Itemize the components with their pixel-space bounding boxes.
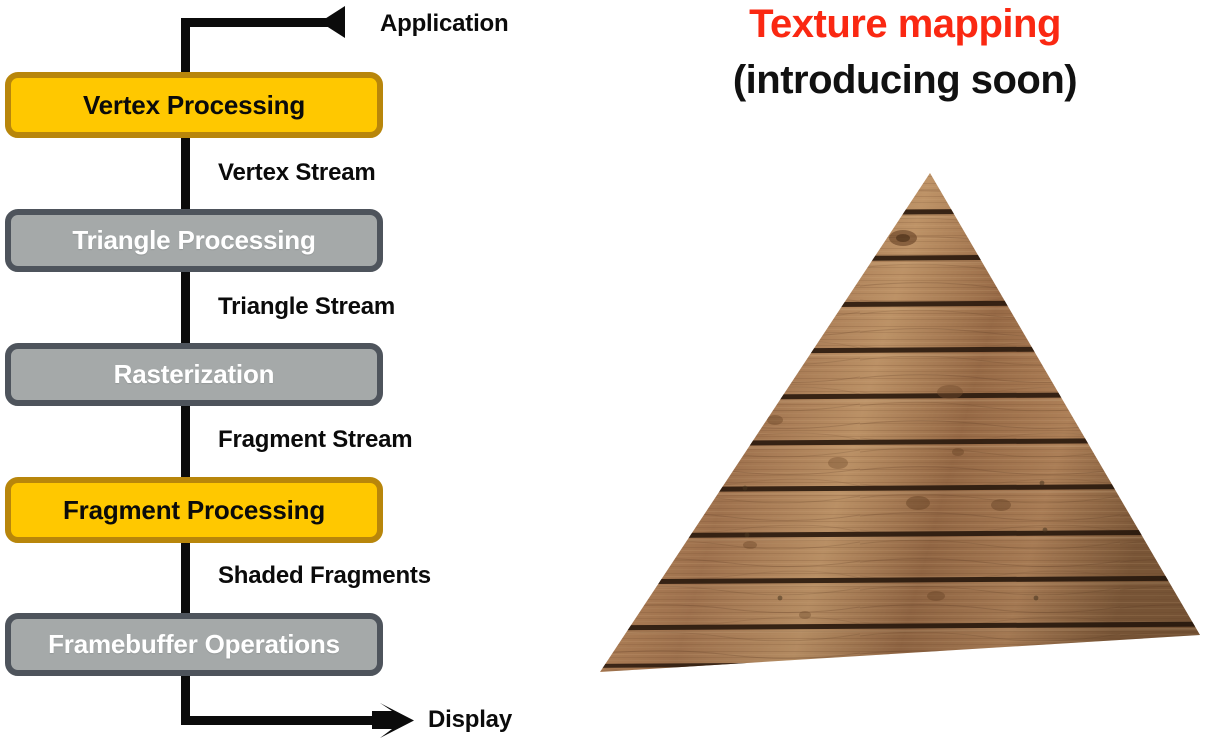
- spine-segment-2: [181, 136, 190, 211]
- spine-segment-3: [181, 269, 190, 344]
- edge-label-fragment-stream: Fragment Stream: [218, 426, 412, 454]
- spine-segment-1: [181, 18, 190, 74]
- spine-segment-5: [181, 539, 190, 614]
- stage-label: Fragment Processing: [63, 495, 325, 526]
- exit-rail: [181, 716, 379, 725]
- graphics-pipeline-diagram: Application Display Vertex Processing Ve…: [0, 0, 600, 752]
- edge-label-triangle-stream: Triangle Stream: [218, 293, 395, 321]
- arrow-right-icon: [372, 703, 414, 739]
- stage-label: Triangle Processing: [72, 225, 315, 256]
- entry-rail: [181, 18, 331, 27]
- edge-label-vertex-stream: Vertex Stream: [218, 159, 376, 187]
- stage-triangle-processing[interactable]: Triangle Processing: [5, 209, 383, 272]
- application-label: Application: [380, 10, 508, 38]
- stage-fragment-processing[interactable]: Fragment Processing: [5, 477, 383, 543]
- stage-framebuffer-operations[interactable]: Framebuffer Operations: [5, 613, 383, 676]
- stage-label: Rasterization: [114, 359, 275, 390]
- texture-mapping-panel: Texture mapping (introducing soon): [600, 0, 1210, 752]
- edge-label-shaded-fragments: Shaded Fragments: [218, 562, 431, 590]
- spine-segment-4: [181, 403, 190, 478]
- stage-label: Vertex Processing: [83, 90, 305, 121]
- display-label: Display: [428, 706, 512, 734]
- stage-label: Framebuffer Operations: [48, 629, 340, 660]
- wood-textured-triangle: [600, 0, 1210, 752]
- arrow-left-icon: [320, 6, 345, 38]
- stage-rasterization[interactable]: Rasterization: [5, 343, 383, 406]
- stage-vertex-processing[interactable]: Vertex Processing: [5, 72, 383, 138]
- wood-texture-fill: [600, 150, 1210, 690]
